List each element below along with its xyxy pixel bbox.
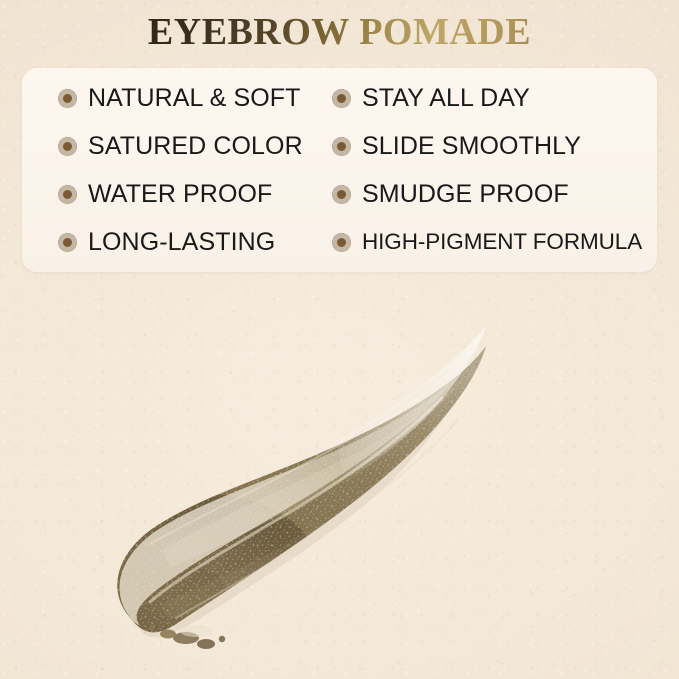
- product-swatch-area: [0, 282, 679, 679]
- feature-label: STAY ALL DAY: [362, 86, 530, 111]
- feature-label: SLIDE SMOOTHLY: [362, 134, 581, 159]
- bullet-dot-icon: [332, 137, 351, 156]
- feature-item-satured-color: SATURED COLOR: [22, 134, 322, 159]
- bullet-dot-icon: [58, 137, 77, 156]
- feature-label: LONG-LASTING: [88, 230, 275, 255]
- page-title-container: EYEBROW POMADE: [0, 11, 679, 53]
- feature-item-high-pigment-formula: HIGH-PIGMENT FORMULA: [322, 231, 657, 254]
- feature-grid: NATURAL & SOFT STAY ALL DAY SATURED COLO…: [22, 68, 657, 272]
- pomade-swatch: [0, 282, 679, 679]
- feature-label: HIGH-PIGMENT FORMULA: [362, 231, 642, 254]
- bullet-dot-icon: [58, 185, 77, 204]
- bullet-dot-icon: [58, 89, 77, 108]
- feature-item-smudge-proof: SMUDGE PROOF: [322, 182, 657, 207]
- feature-label: WATER PROOF: [88, 182, 272, 207]
- bullet-dot-icon: [332, 185, 351, 204]
- page-title: EYEBROW POMADE: [148, 11, 531, 53]
- feature-label: SATURED COLOR: [88, 134, 303, 159]
- product-infographic: EYEBROW POMADE NATURAL & SOFT STAY ALL D…: [0, 0, 679, 679]
- bullet-dot-icon: [332, 89, 351, 108]
- feature-list-card: NATURAL & SOFT STAY ALL DAY SATURED COLO…: [22, 68, 657, 272]
- feature-label: NATURAL & SOFT: [88, 86, 301, 111]
- feature-item-natural-soft: NATURAL & SOFT: [22, 86, 322, 111]
- feature-item-slide-smoothly: SLIDE SMOOTHLY: [322, 134, 657, 159]
- bullet-dot-icon: [332, 233, 351, 252]
- feature-item-water-proof: WATER PROOF: [22, 182, 322, 207]
- feature-item-long-lasting: LONG-LASTING: [22, 230, 322, 255]
- bullet-dot-icon: [58, 233, 77, 252]
- feature-label: SMUDGE PROOF: [362, 182, 569, 207]
- feature-item-stay-all-day: STAY ALL DAY: [322, 86, 657, 111]
